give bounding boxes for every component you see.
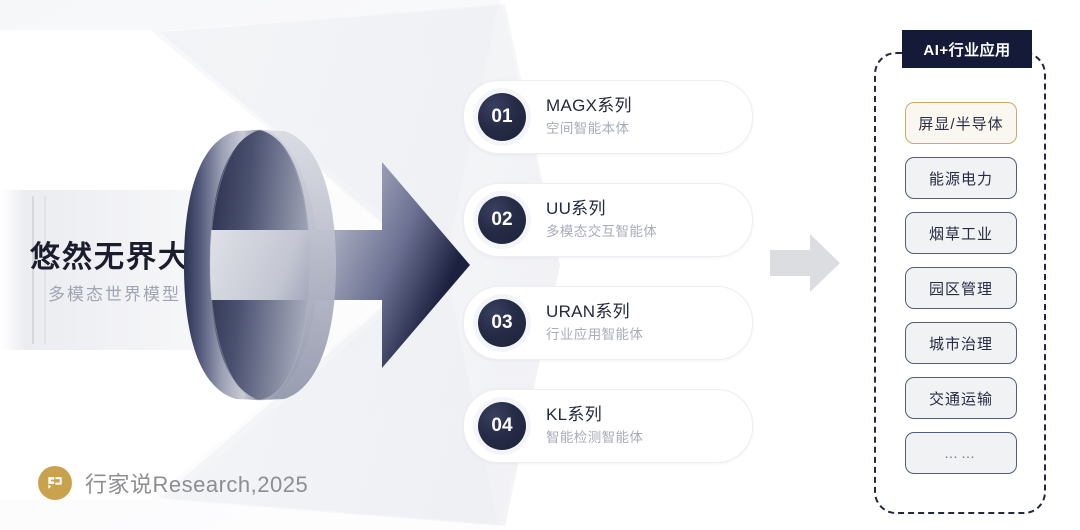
item-badge: 01 — [478, 93, 526, 141]
item-text: URAN系列 行业应用智能体 — [546, 301, 643, 345]
industry-chip-urban-governance[interactable]: 城市治理 — [905, 322, 1017, 364]
industry-chip-tobacco[interactable]: 烟草工业 — [905, 212, 1017, 254]
item-badge: 02 — [478, 196, 526, 244]
industry-chip-energy-power[interactable]: 能源电力 — [905, 157, 1017, 199]
industry-chip-list: 屏显/半导体 能源电力 烟草工业 园区管理 城市治理 交通运输 …… — [905, 102, 1015, 487]
item-description: 空间智能本体 — [546, 119, 632, 139]
item-text: KL系列 智能检测智能体 — [546, 404, 643, 448]
item-text: MAGX系列 空间智能本体 — [546, 95, 632, 139]
industry-chip-transportation[interactable]: 交通运输 — [905, 377, 1017, 419]
industry-chip-more[interactable]: …… — [905, 432, 1017, 474]
item-title: URAN系列 — [546, 301, 643, 322]
industry-chip-screen-semiconductor[interactable]: 屏显/半导体 — [905, 102, 1017, 144]
industry-application-panel: AI+行业应用 屏显/半导体 能源电力 烟草工业 园区管理 城市治理 交通运输 … — [874, 52, 1046, 514]
item-title: UU系列 — [546, 198, 657, 219]
list-item[interactable]: 02 UU系列 多模态交互智能体 — [463, 183, 753, 257]
model-series-list: 01 MAGX系列 空间智能本体 02 UU系列 多模态交互智能体 03 URA… — [463, 80, 753, 465]
logo-glyph — [45, 473, 65, 493]
panel-title: AI+行业应用 — [902, 30, 1032, 68]
item-badge: 03 — [478, 299, 526, 347]
list-item[interactable]: 01 MAGX系列 空间智能本体 — [463, 80, 753, 154]
slide-canvas: 悠然无界大模型 多模态世界模型 — [0, 0, 1080, 530]
item-text: UU系列 多模态交互智能体 — [546, 198, 657, 242]
watermark: 行家说Research,2025 — [38, 466, 308, 500]
item-title: MAGX系列 — [546, 95, 632, 116]
item-description: 行业应用智能体 — [546, 325, 643, 345]
right-arrow-icon — [770, 232, 840, 294]
watermark-text: 行家说Research,2025 — [85, 467, 308, 499]
item-badge: 04 — [478, 402, 526, 450]
list-item[interactable]: 03 URAN系列 行业应用智能体 — [463, 286, 753, 360]
3d-ring-icon — [150, 100, 480, 430]
item-title: KL系列 — [546, 404, 643, 425]
item-description: 智能检测智能体 — [546, 428, 643, 448]
hangjiashuo-logo-icon — [38, 466, 72, 500]
industry-chip-park-management[interactable]: 园区管理 — [905, 267, 1017, 309]
list-item[interactable]: 04 KL系列 智能检测智能体 — [463, 389, 753, 463]
item-description: 多模态交互智能体 — [546, 222, 657, 242]
